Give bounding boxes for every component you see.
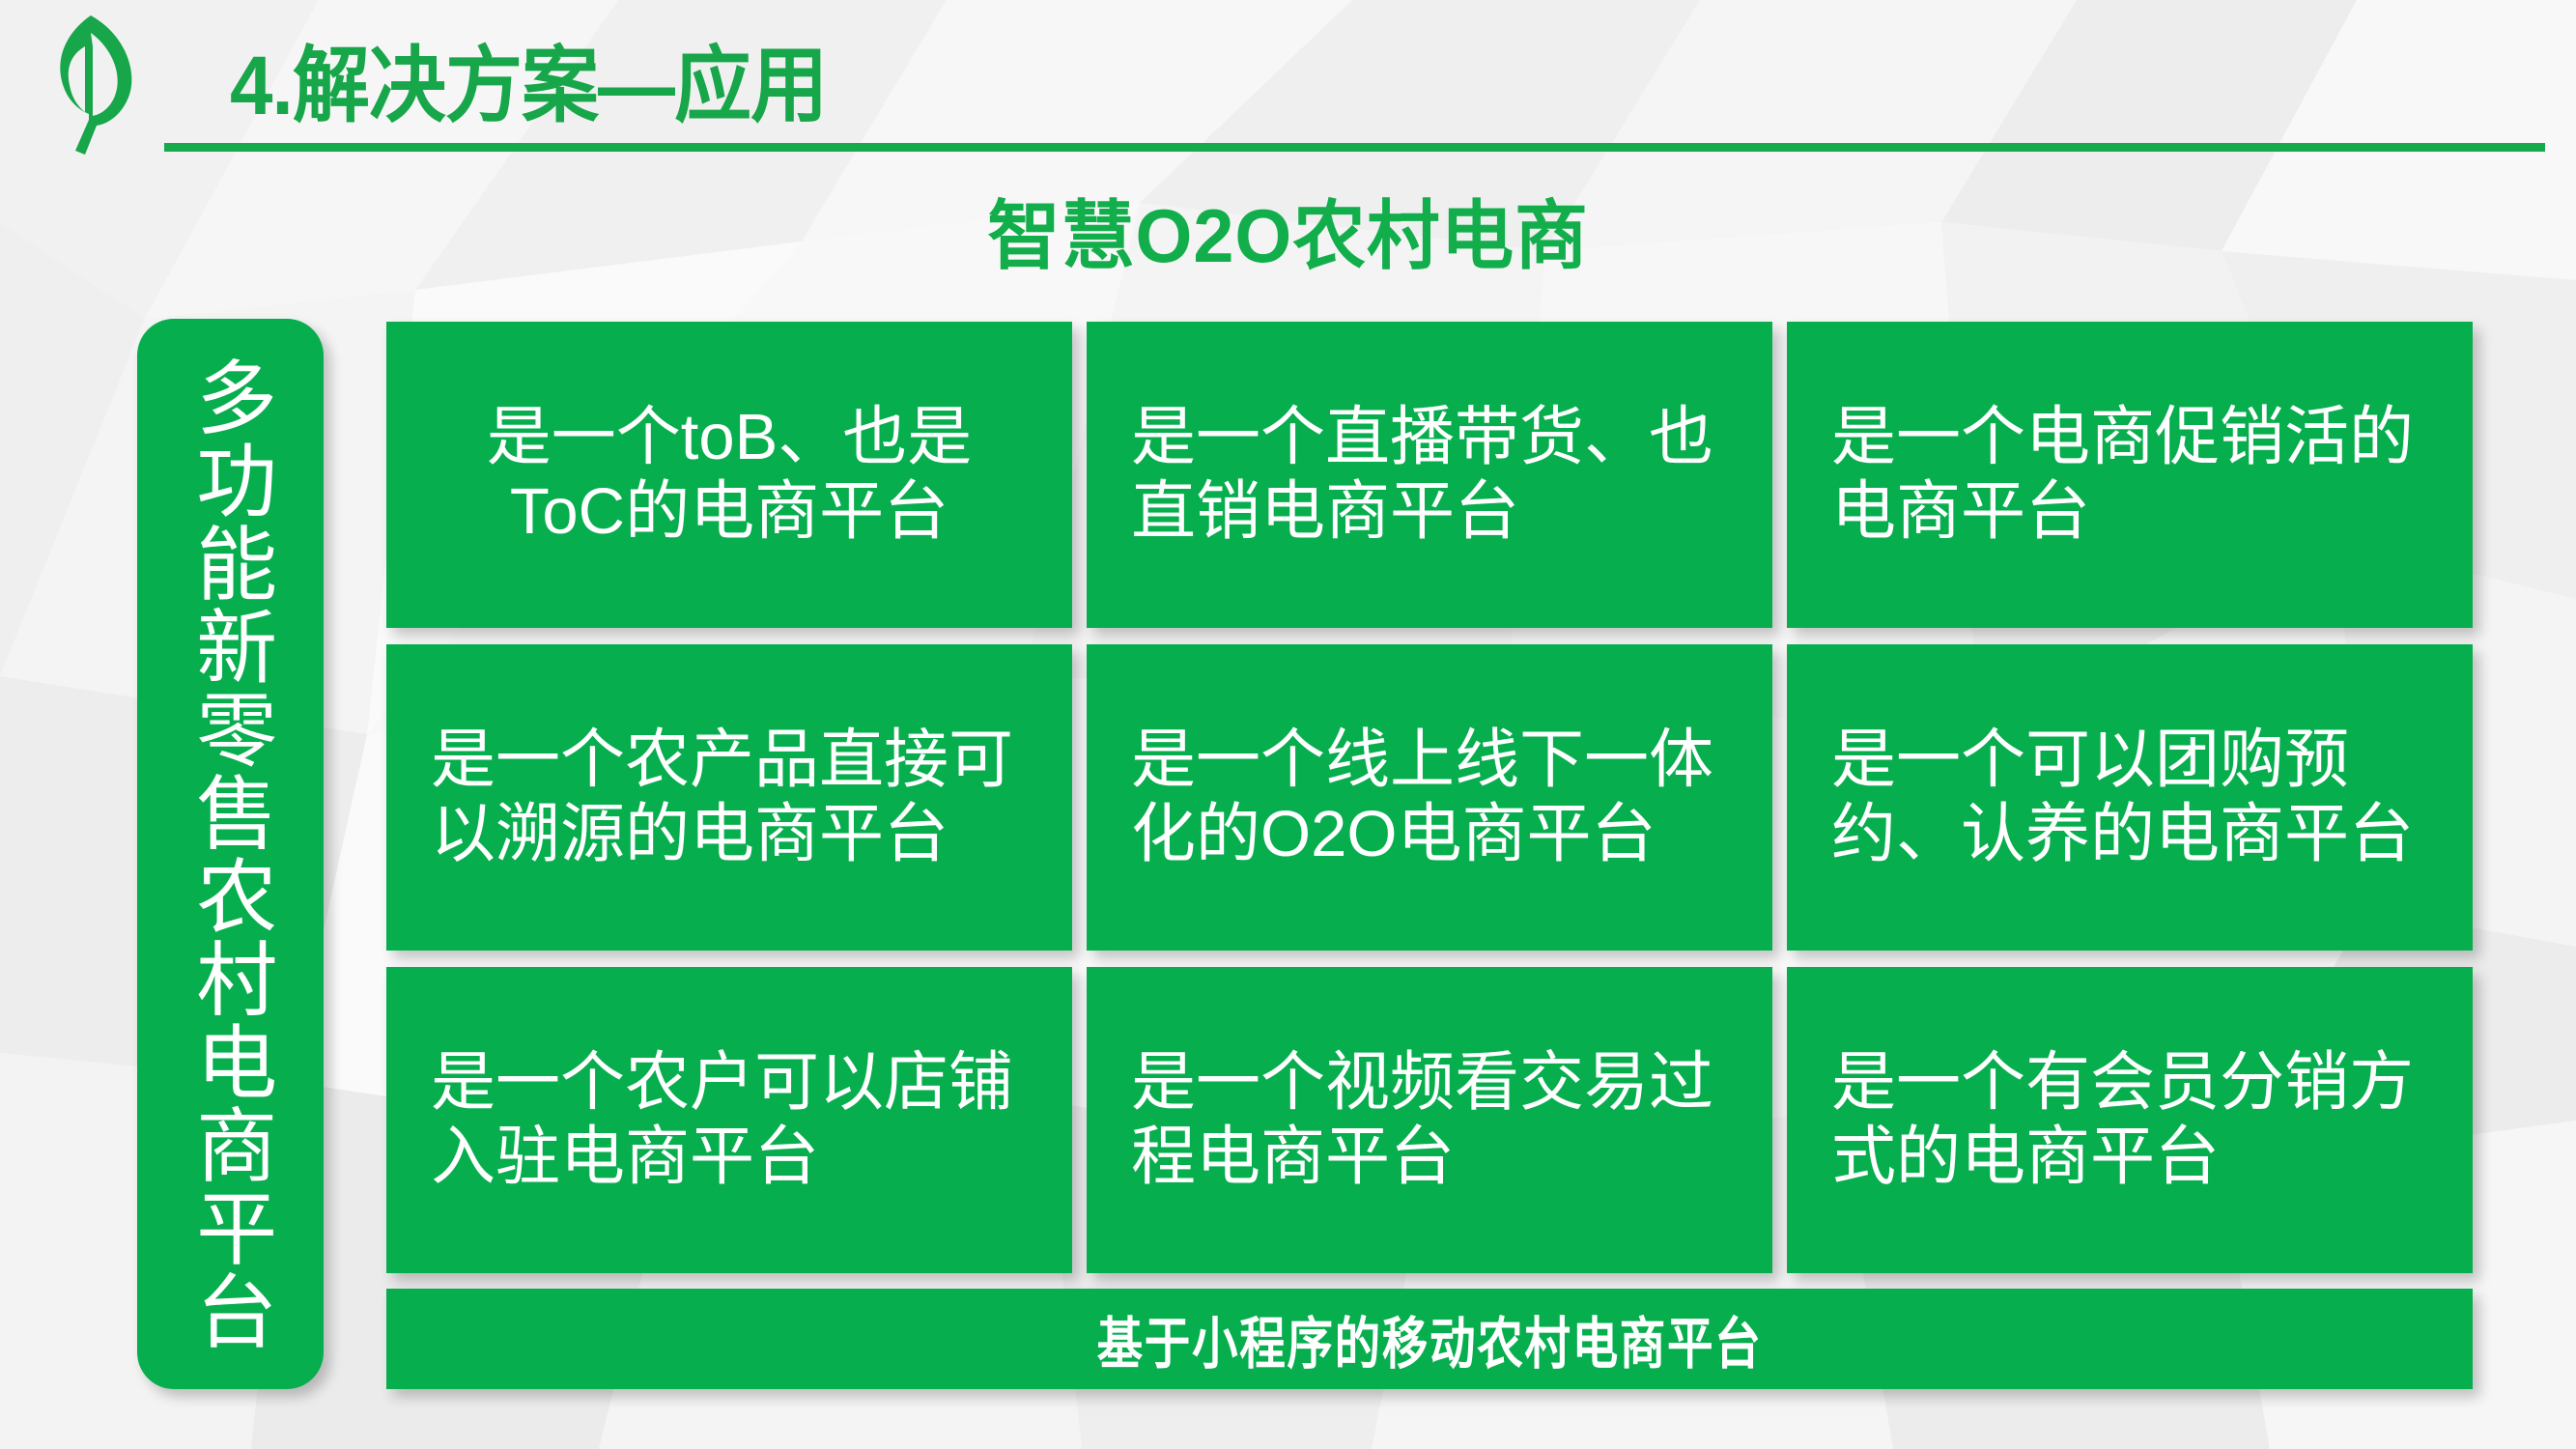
feature-card-text: 是一个农户可以店铺入驻电商平台 (386, 1046, 1072, 1194)
feature-card-grid: 是一个toB、也是ToC的电商平台 是一个直播带货、也直销电商平台 是一个电商促… (386, 322, 2473, 1273)
slide-header: 4.解决方案—应用 (0, 0, 2576, 159)
feature-card[interactable]: 是一个可以团购预约、认养的电商平台 (1787, 644, 2473, 951)
feature-card-text: 是一个toB、也是ToC的电商平台 (386, 401, 1072, 549)
feature-card-text: 是一个线上线下一体化的O2O电商平台 (1087, 724, 1772, 871)
feature-card[interactable]: 是一个电商促销活的电商平台 (1787, 322, 2473, 628)
feature-card[interactable]: 是一个农户可以店铺入驻电商平台 (386, 967, 1072, 1273)
feature-card[interactable]: 是一个有会员分销方式的电商平台 (1787, 967, 2473, 1273)
feature-card[interactable]: 是一个视频看交易过程电商平台 (1087, 967, 1772, 1273)
feature-card-text: 是一个视频看交易过程电商平台 (1087, 1046, 1772, 1194)
feature-card-text: 是一个可以团购预约、认养的电商平台 (1787, 724, 2473, 871)
bottom-banner[interactable]: 基于小程序的移动农村电商平台 (386, 1289, 2473, 1389)
feature-card[interactable]: 是一个toB、也是ToC的电商平台 (386, 322, 1072, 628)
left-vertical-panel: 多功能新零售农村电商平台 (137, 319, 324, 1389)
feature-card-text: 是一个直播带货、也直销电商平台 (1087, 401, 1772, 549)
main-title: 智慧O2O农村电商 (39, 176, 2537, 284)
slide-canvas: 4.解决方案—应用 智慧O2O农村电商 多功能新零售农村电商平台 是一个toB、… (0, 0, 2576, 1449)
header-divider (164, 143, 2545, 152)
left-panel-label: 多功能新零售农村电商平台 (190, 355, 269, 1352)
feature-card-text: 是一个有会员分销方式的电商平台 (1787, 1046, 2473, 1194)
feature-card[interactable]: 是一个线上线下一体化的O2O电商平台 (1087, 644, 1772, 951)
feature-card[interactable]: 是一个直播带货、也直销电商平台 (1087, 322, 1772, 628)
bottom-banner-text: 基于小程序的移动农村电商平台 (1097, 1298, 1763, 1379)
page-title: 4.解决方案—应用 (230, 17, 827, 138)
feature-card-text: 是一个农产品直接可以溯源的电商平台 (386, 724, 1072, 871)
leaf-icon (37, 8, 145, 157)
feature-card-text: 是一个电商促销活的电商平台 (1787, 401, 2473, 549)
feature-card[interactable]: 是一个农产品直接可以溯源的电商平台 (386, 644, 1072, 951)
